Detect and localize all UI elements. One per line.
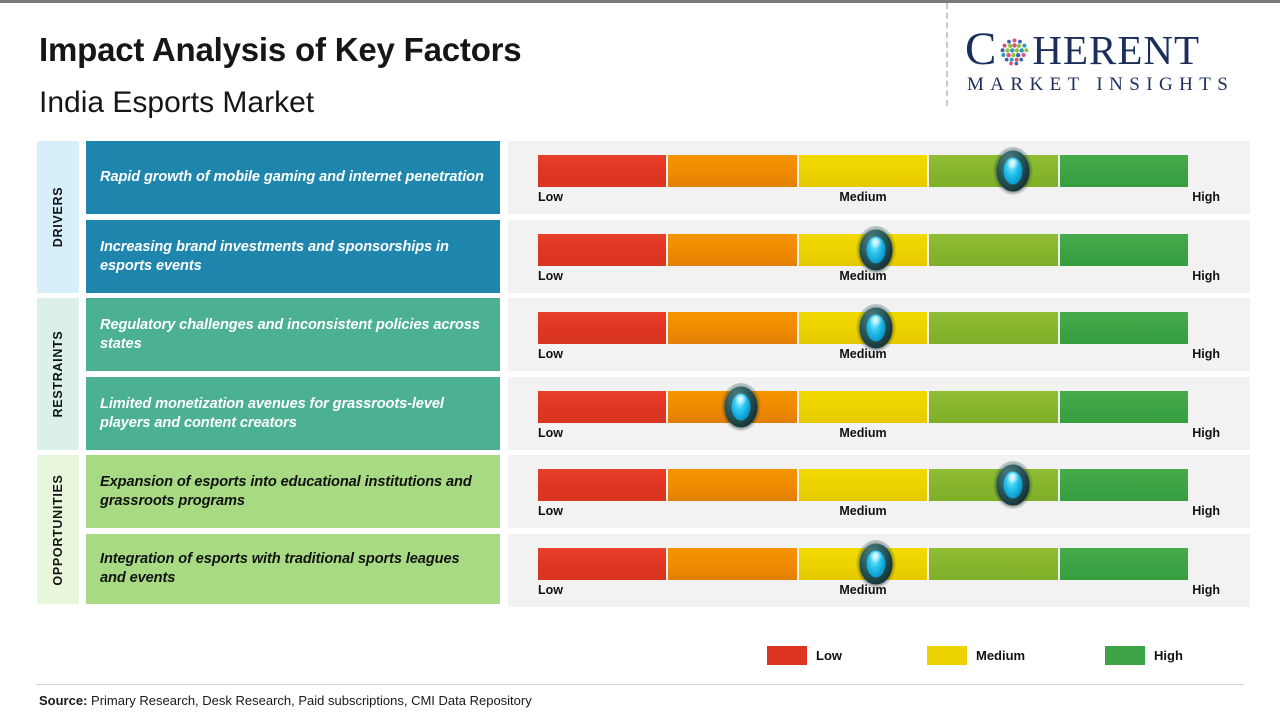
scale-segment-medium — [797, 469, 927, 501]
tick-label-medium: Medium — [839, 190, 886, 204]
tick-label-low: Low — [538, 426, 563, 440]
scale-segment-high — [1058, 548, 1188, 580]
logo-wordmark-text: HERENT — [1032, 27, 1200, 73]
factor-text: Limited monetization avenues for grassro… — [100, 395, 486, 432]
tick-label-high: High — [1192, 426, 1220, 440]
factor-text: Integration of esports with traditional … — [100, 550, 486, 587]
tick-label-medium: Medium — [839, 583, 886, 597]
category-label-restraints: RESTRAINTS — [51, 331, 65, 418]
scale-segment-low — [538, 234, 666, 266]
scale-segment-low — [538, 469, 666, 501]
legend-label-medium: Medium — [976, 648, 1025, 663]
legend-item-low: Low — [767, 646, 842, 665]
factor-box: Integration of esports with traditional … — [86, 534, 500, 604]
company-logo: C — [965, 24, 1260, 102]
tick-label-high: High — [1192, 269, 1220, 283]
page-title: Impact Analysis of Key Factors — [39, 33, 521, 66]
factor-box: Regulatory challenges and inconsistent p… — [86, 298, 500, 371]
scale-segment-mid-high — [927, 312, 1057, 344]
category-band-drivers: DRIVERS — [37, 141, 79, 293]
source-label: Source: — [39, 693, 87, 708]
impact-gauge-row: Low Medium High — [508, 377, 1250, 450]
factor-text: Increasing brand investments and sponsor… — [100, 238, 486, 275]
tick-label-low: Low — [538, 583, 563, 597]
scale-segment-high — [1058, 234, 1188, 266]
scale-segment-medium — [797, 155, 927, 187]
legend-swatch-medium-icon — [927, 646, 967, 665]
logo-divider-dashed-line — [946, 3, 948, 106]
tick-label-high: High — [1192, 190, 1220, 204]
legend-label-high: High — [1154, 648, 1183, 663]
scale-segment-low-mid — [666, 548, 796, 580]
legend-item-medium: Medium — [927, 646, 1025, 665]
logo-wordmark: C — [965, 24, 1260, 74]
category-band-opportunities: OPPORTUNITIES — [37, 455, 79, 604]
scale-segment-mid-high — [927, 234, 1057, 266]
factor-box: Rapid growth of mobile gaming and intern… — [86, 141, 500, 214]
scale-segment-mid-high — [927, 548, 1057, 580]
tick-label-low: Low — [538, 347, 563, 361]
category-label-opportunities: OPPORTUNITIES — [51, 474, 65, 585]
footer-divider — [36, 684, 1244, 685]
impact-gauge-row: Low Medium High — [508, 455, 1250, 528]
scale-segment-mid-high — [927, 391, 1057, 423]
source-text: Primary Research, Desk Research, Paid su… — [87, 693, 531, 708]
scale-segment-high — [1058, 391, 1188, 423]
category-band-restraints: RESTRAINTS — [37, 298, 79, 450]
page-subtitle: India Esports Market — [39, 88, 314, 118]
scale-segment-low — [538, 548, 666, 580]
factor-text: Rapid growth of mobile gaming and intern… — [100, 168, 484, 187]
tick-label-medium: Medium — [839, 269, 886, 283]
logo-tagline: MARKET INSIGHTS — [967, 74, 1260, 96]
scale-segment-low-mid — [666, 234, 796, 266]
impact-level-marker-icon[interactable] — [856, 226, 896, 274]
impact-gauge-row: Low Medium High — [508, 141, 1250, 214]
globe-dot-sphere-icon — [998, 29, 1031, 62]
scale-segment-high — [1058, 155, 1188, 187]
scale-segment-low-mid — [666, 469, 796, 501]
scale-segment-high — [1058, 469, 1188, 501]
impact-level-marker-icon[interactable] — [856, 540, 896, 588]
factor-box: Increasing brand investments and sponsor… — [86, 220, 500, 293]
impact-level-marker-icon[interactable] — [993, 461, 1033, 509]
scale-segment-low — [538, 155, 666, 187]
impact-level-marker-icon[interactable] — [856, 304, 896, 352]
tick-label-low: Low — [538, 190, 563, 204]
scale-segment-low-mid — [666, 155, 796, 187]
legend-swatch-high-icon — [1105, 646, 1145, 665]
legend-swatch-low-icon — [767, 646, 807, 665]
tick-label-low: Low — [538, 504, 563, 518]
impact-scale-bar — [538, 391, 1188, 423]
impact-gauge-row: Low Medium High — [508, 298, 1250, 371]
source-note: Source: Primary Research, Desk Research,… — [39, 693, 532, 708]
scale-segment-medium — [797, 391, 927, 423]
impact-level-marker-icon[interactable] — [721, 383, 761, 431]
category-label-drivers: DRIVERS — [51, 187, 65, 247]
scale-segment-low — [538, 312, 666, 344]
impact-gauge-row: Low Medium High — [508, 220, 1250, 293]
slide: Impact Analysis of Key Factors India Esp… — [0, 0, 1280, 720]
tick-label-low: Low — [538, 269, 563, 283]
impact-scale-bar — [538, 155, 1188, 187]
legend-label-low: Low — [816, 648, 842, 663]
scale-segment-low-mid — [666, 312, 796, 344]
tick-label-high: High — [1192, 583, 1220, 597]
factor-text: Expansion of esports into educational in… — [100, 473, 486, 510]
tick-label-medium: Medium — [839, 347, 886, 361]
logo-letter-c: C — [965, 23, 997, 75]
scale-segment-low — [538, 391, 666, 423]
legend-item-high: High — [1105, 646, 1183, 665]
tick-label-medium: Medium — [839, 426, 886, 440]
chart-legend: Low Medium High — [767, 646, 1187, 666]
scale-segment-high — [1058, 312, 1188, 344]
tick-label-high: High — [1192, 347, 1220, 361]
top-border-rule — [0, 0, 1280, 3]
impact-level-marker-icon[interactable] — [993, 147, 1033, 195]
tick-label-high: High — [1192, 504, 1220, 518]
impact-scale-bar — [538, 469, 1188, 501]
factor-box: Limited monetization avenues for grassro… — [86, 377, 500, 450]
factor-box: Expansion of esports into educational in… — [86, 455, 500, 528]
tick-label-medium: Medium — [839, 504, 886, 518]
impact-gauge-row: Low Medium High — [508, 534, 1250, 607]
factor-text: Regulatory challenges and inconsistent p… — [100, 316, 486, 353]
